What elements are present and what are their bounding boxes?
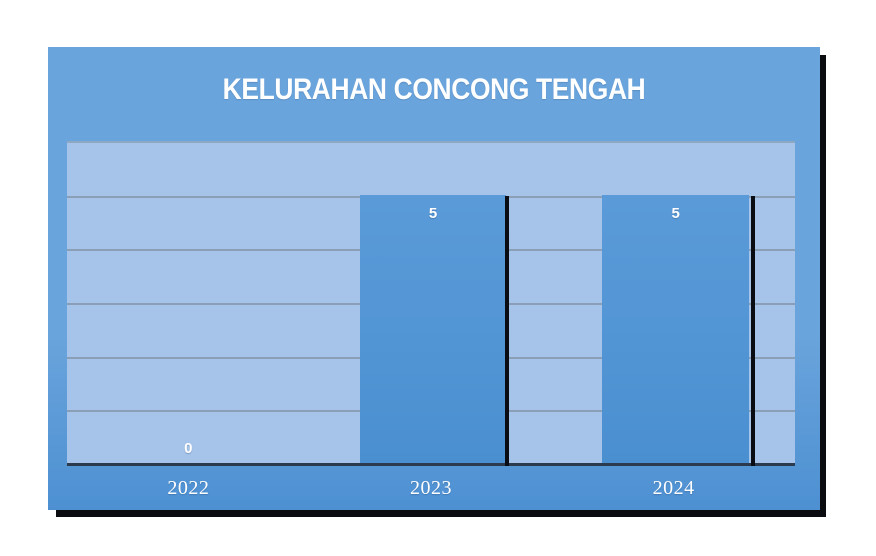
bar-2023[interactable]: 5 [360, 195, 507, 463]
plot-area: 055 [67, 141, 795, 463]
x-axis-line [67, 463, 795, 466]
chart-title: KELURAHAN CONCONG TENGAH [94, 73, 773, 107]
separator-after-2023 [505, 196, 509, 466]
slide-canvas: KELURAHAN CONCONG TENGAH 055 20222023202… [0, 0, 876, 556]
separator-after-2024 [751, 196, 755, 466]
plot-inner: 055 [67, 143, 795, 463]
chart-card: KELURAHAN CONCONG TENGAH 055 20222023202… [48, 47, 820, 510]
x-tick-label-2023: 2023 [310, 477, 553, 500]
x-tick-label-2022: 2022 [67, 477, 310, 500]
bar-value-label-2022: 0 [115, 440, 262, 457]
bar-value-label-2024: 5 [602, 205, 749, 222]
bar-value-label-2023: 5 [360, 205, 507, 222]
bar-2024[interactable]: 5 [602, 195, 749, 463]
x-axis-tick-labels: 202220232024 [67, 469, 795, 510]
x-tick-label-2024: 2024 [552, 477, 795, 500]
